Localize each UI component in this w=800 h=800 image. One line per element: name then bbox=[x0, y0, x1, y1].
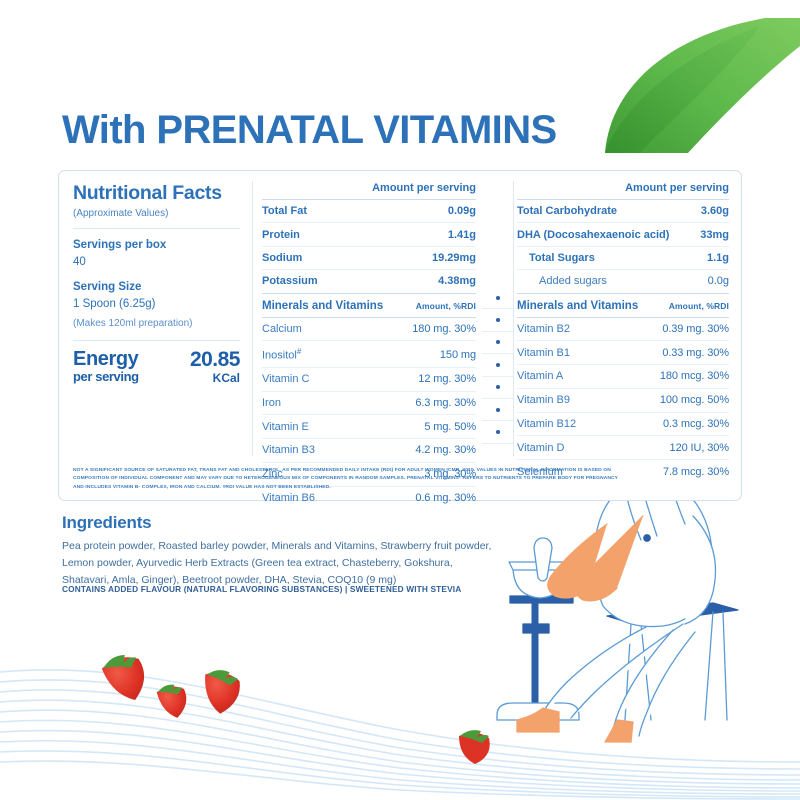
servings-per-box-label: Servings per box bbox=[73, 237, 240, 254]
minerals-vitamins-header-left: Minerals and Vitamins Amount, %RDI bbox=[262, 293, 476, 318]
macros-column-right: Amount per serving Total Carbohydrate 3.… bbox=[513, 171, 741, 500]
energy-value-group: 20.85 KCal bbox=[190, 349, 240, 386]
amount-rdi-label: Amount, %RDI bbox=[416, 301, 476, 311]
nutrient-name: Vitamin B12 bbox=[517, 418, 576, 430]
table-row: Vitamin B12 0.3 mcg. 30% bbox=[517, 413, 729, 437]
bullet-dot-icon bbox=[496, 430, 500, 434]
energy-unit: KCal bbox=[190, 371, 240, 385]
table-row: Inositol# 150 mg bbox=[262, 341, 476, 367]
nutrient-value: 6.3 mg. 30% bbox=[415, 397, 476, 409]
column-divider bbox=[252, 181, 253, 456]
nutrient-name: DHA (Docosahexaenoic acid) bbox=[517, 229, 669, 241]
amount-rdi-label: Amount, %RDI bbox=[669, 301, 729, 311]
ingredients-title: Ingredients bbox=[62, 513, 151, 533]
nutrient-name: Total Carbohydrate bbox=[517, 205, 617, 217]
energy-sublabel: per serving bbox=[73, 370, 139, 384]
table-row: Total Carbohydrate 3.60g bbox=[517, 200, 729, 223]
amount-per-serving-header-left: Amount per serving bbox=[262, 182, 476, 200]
table-row: Total Fat 0.09g bbox=[262, 200, 476, 223]
nutrient-name: Vitamin B9 bbox=[517, 394, 570, 406]
energy-row: Energy per serving 20.85 KCal bbox=[73, 349, 240, 386]
bullet-row bbox=[482, 399, 513, 421]
macros-column-left: Amount per serving Total Fat 0.09g Prote… bbox=[252, 171, 482, 500]
table-row: Iron 6.3 mg. 30% bbox=[262, 392, 476, 416]
minerals-vitamins-label: Minerals and Vitamins bbox=[262, 300, 383, 312]
bullet-separator-column bbox=[482, 171, 513, 500]
nutrient-value: 4.38mg bbox=[438, 275, 476, 287]
nutrient-value: 0.33 mg. 30% bbox=[662, 347, 729, 359]
amount-per-serving-header-right: Amount per serving bbox=[517, 182, 729, 200]
bullet-row bbox=[482, 354, 513, 376]
table-row: Protein 1.41g bbox=[262, 223, 476, 246]
nutrient-name: Vitamin B6 bbox=[262, 492, 315, 504]
nutrient-name: Vitamin C bbox=[262, 373, 309, 385]
nutrient-value: 0.6 mg. 30% bbox=[415, 492, 476, 504]
nutrient-value: 4.2 mg. 30% bbox=[415, 444, 476, 456]
nutrient-name: Calcium bbox=[262, 323, 302, 335]
nutrient-name: Vitamin E bbox=[262, 421, 309, 433]
nutrient-name: Vitamin B3 bbox=[262, 444, 315, 456]
table-row: Total Sugars 1.1g bbox=[517, 247, 729, 270]
nutrient-value: 19.29mg bbox=[432, 252, 476, 264]
nutrient-name: Vitamin A bbox=[517, 370, 563, 382]
nutrient-name: Total Fat bbox=[262, 205, 307, 217]
serving-size-label: Serving Size bbox=[73, 279, 240, 296]
disclaimer-text: NOT A SIGNIFICANT SOURCE OF SATURATED FA… bbox=[73, 467, 629, 492]
table-row: Sodium 19.29mg bbox=[262, 247, 476, 270]
nutrient-value: 0.0g bbox=[708, 275, 729, 287]
nutrient-value: 0.09g bbox=[448, 205, 476, 217]
nutrient-value: 33mg bbox=[700, 229, 729, 241]
table-row: Vitamin B3 4.2 mg. 30% bbox=[262, 439, 476, 463]
divider bbox=[73, 340, 240, 341]
nutrient-value: 180 mg. 30% bbox=[412, 323, 476, 335]
nutrient-value: 150 mg bbox=[440, 349, 476, 361]
energy-value: 20.85 bbox=[190, 349, 240, 372]
nutrition-facts-panel: Nutritional Facts (Approximate Values) S… bbox=[58, 170, 742, 501]
bullet-dot-icon bbox=[496, 340, 500, 344]
bullet-dot-icon bbox=[496, 363, 500, 367]
bullet-row bbox=[482, 287, 513, 309]
serving-size-value: 1 Spoon (6.25g) bbox=[73, 296, 240, 313]
bullet-dot-icon bbox=[496, 408, 500, 412]
nutrient-name: Inositol# bbox=[262, 347, 301, 362]
servings-per-box-group: Servings per box 40 bbox=[73, 237, 240, 270]
serving-size-group: Serving Size 1 Spoon (6.25g) (Makes 120m… bbox=[73, 279, 240, 330]
nutrient-value: 0.39 mg. 30% bbox=[662, 323, 729, 335]
table-row: Added sugars 0.0g bbox=[517, 270, 729, 292]
nutrient-value: 5 mg. 50% bbox=[424, 421, 476, 433]
bullet-dot-icon bbox=[496, 296, 500, 300]
nutrient-name: Potassium bbox=[262, 275, 318, 287]
minerals-vitamins-label: Minerals and Vitamins bbox=[517, 300, 638, 312]
nutrient-value: 1.1g bbox=[707, 252, 729, 264]
minerals-vitamins-header-right: Minerals and Vitamins Amount, %RDI bbox=[517, 293, 729, 318]
page-title: With PRENATAL VITAMINS bbox=[62, 110, 557, 150]
nutrient-value: 120 IU, 30% bbox=[670, 442, 729, 454]
nutrient-name: Vitamin D bbox=[517, 442, 564, 454]
nutrient-value: 3.60g bbox=[701, 205, 729, 217]
nutrient-name: Protein bbox=[262, 229, 300, 241]
nutrient-name: Vitamin B1 bbox=[517, 347, 570, 359]
energy-label: Energy bbox=[73, 348, 138, 370]
leaf-icon bbox=[570, 18, 800, 183]
table-row: Vitamin D 120 IU, 30% bbox=[517, 436, 729, 460]
strawberry-decoration bbox=[78, 655, 308, 750]
footnote-marker: # bbox=[297, 347, 301, 356]
nutrient-name: Vitamin B2 bbox=[517, 323, 570, 335]
energy-label-group: Energy per serving bbox=[73, 349, 139, 385]
nutrient-value: 1.41g bbox=[448, 229, 476, 241]
bullet-row bbox=[482, 332, 513, 354]
bullet-dot-icon bbox=[496, 385, 500, 389]
ingredients-note: CONTAINS ADDED FLAVOUR (NATURAL FLAVORIN… bbox=[62, 584, 492, 594]
panel-title: Nutritional Facts bbox=[73, 182, 240, 205]
table-row: Vitamin C 12 mg. 30% bbox=[262, 368, 476, 392]
table-row: Vitamin B2 0.39 mg. 30% bbox=[517, 318, 729, 342]
nutrition-summary-column: Nutritional Facts (Approximate Values) S… bbox=[59, 171, 252, 500]
nutrient-name: Iron bbox=[262, 397, 281, 409]
table-row: Vitamin A 180 mcg. 30% bbox=[517, 365, 729, 389]
ingredients-body: Pea protein powder, Roasted barley powde… bbox=[62, 538, 492, 589]
strawberry-icon-foot bbox=[455, 728, 495, 766]
servings-per-box-value: 40 bbox=[73, 254, 240, 271]
table-row: Vitamin B1 0.33 mg. 30% bbox=[517, 341, 729, 365]
nutrient-value: 12 mg. 30% bbox=[418, 373, 476, 385]
panel-subtitle: (Approximate Values) bbox=[73, 208, 240, 219]
table-row: Potassium 4.38mg bbox=[262, 270, 476, 292]
table-row: Calcium 180 mg. 30% bbox=[262, 318, 476, 342]
bullet-row bbox=[482, 377, 513, 399]
nutrient-value: 180 mcg. 30% bbox=[660, 370, 729, 382]
bullet-dot-icon bbox=[496, 318, 500, 322]
divider bbox=[73, 228, 240, 229]
nutrient-name: Added sugars bbox=[517, 275, 607, 287]
nutrient-value: 100 mcg. 50% bbox=[660, 394, 729, 406]
table-row: Vitamin B9 100 mcg. 50% bbox=[517, 389, 729, 413]
nutrient-value: 0.3 mcg. 30% bbox=[663, 418, 729, 430]
table-row: Vitamin E 5 mg. 50% bbox=[262, 415, 476, 439]
nutrient-name: Sodium bbox=[262, 252, 302, 264]
column-divider bbox=[513, 181, 514, 456]
nutrient-value: 7.8 mcg. 30% bbox=[663, 466, 729, 478]
nutrient-name: Total Sugars bbox=[517, 252, 595, 264]
bullet-row bbox=[482, 421, 513, 443]
serving-size-note: (Makes 120ml preparation) bbox=[73, 316, 240, 331]
table-row: DHA (Docosahexaenoic acid) 33mg bbox=[517, 223, 729, 246]
bullet-row bbox=[482, 309, 513, 331]
